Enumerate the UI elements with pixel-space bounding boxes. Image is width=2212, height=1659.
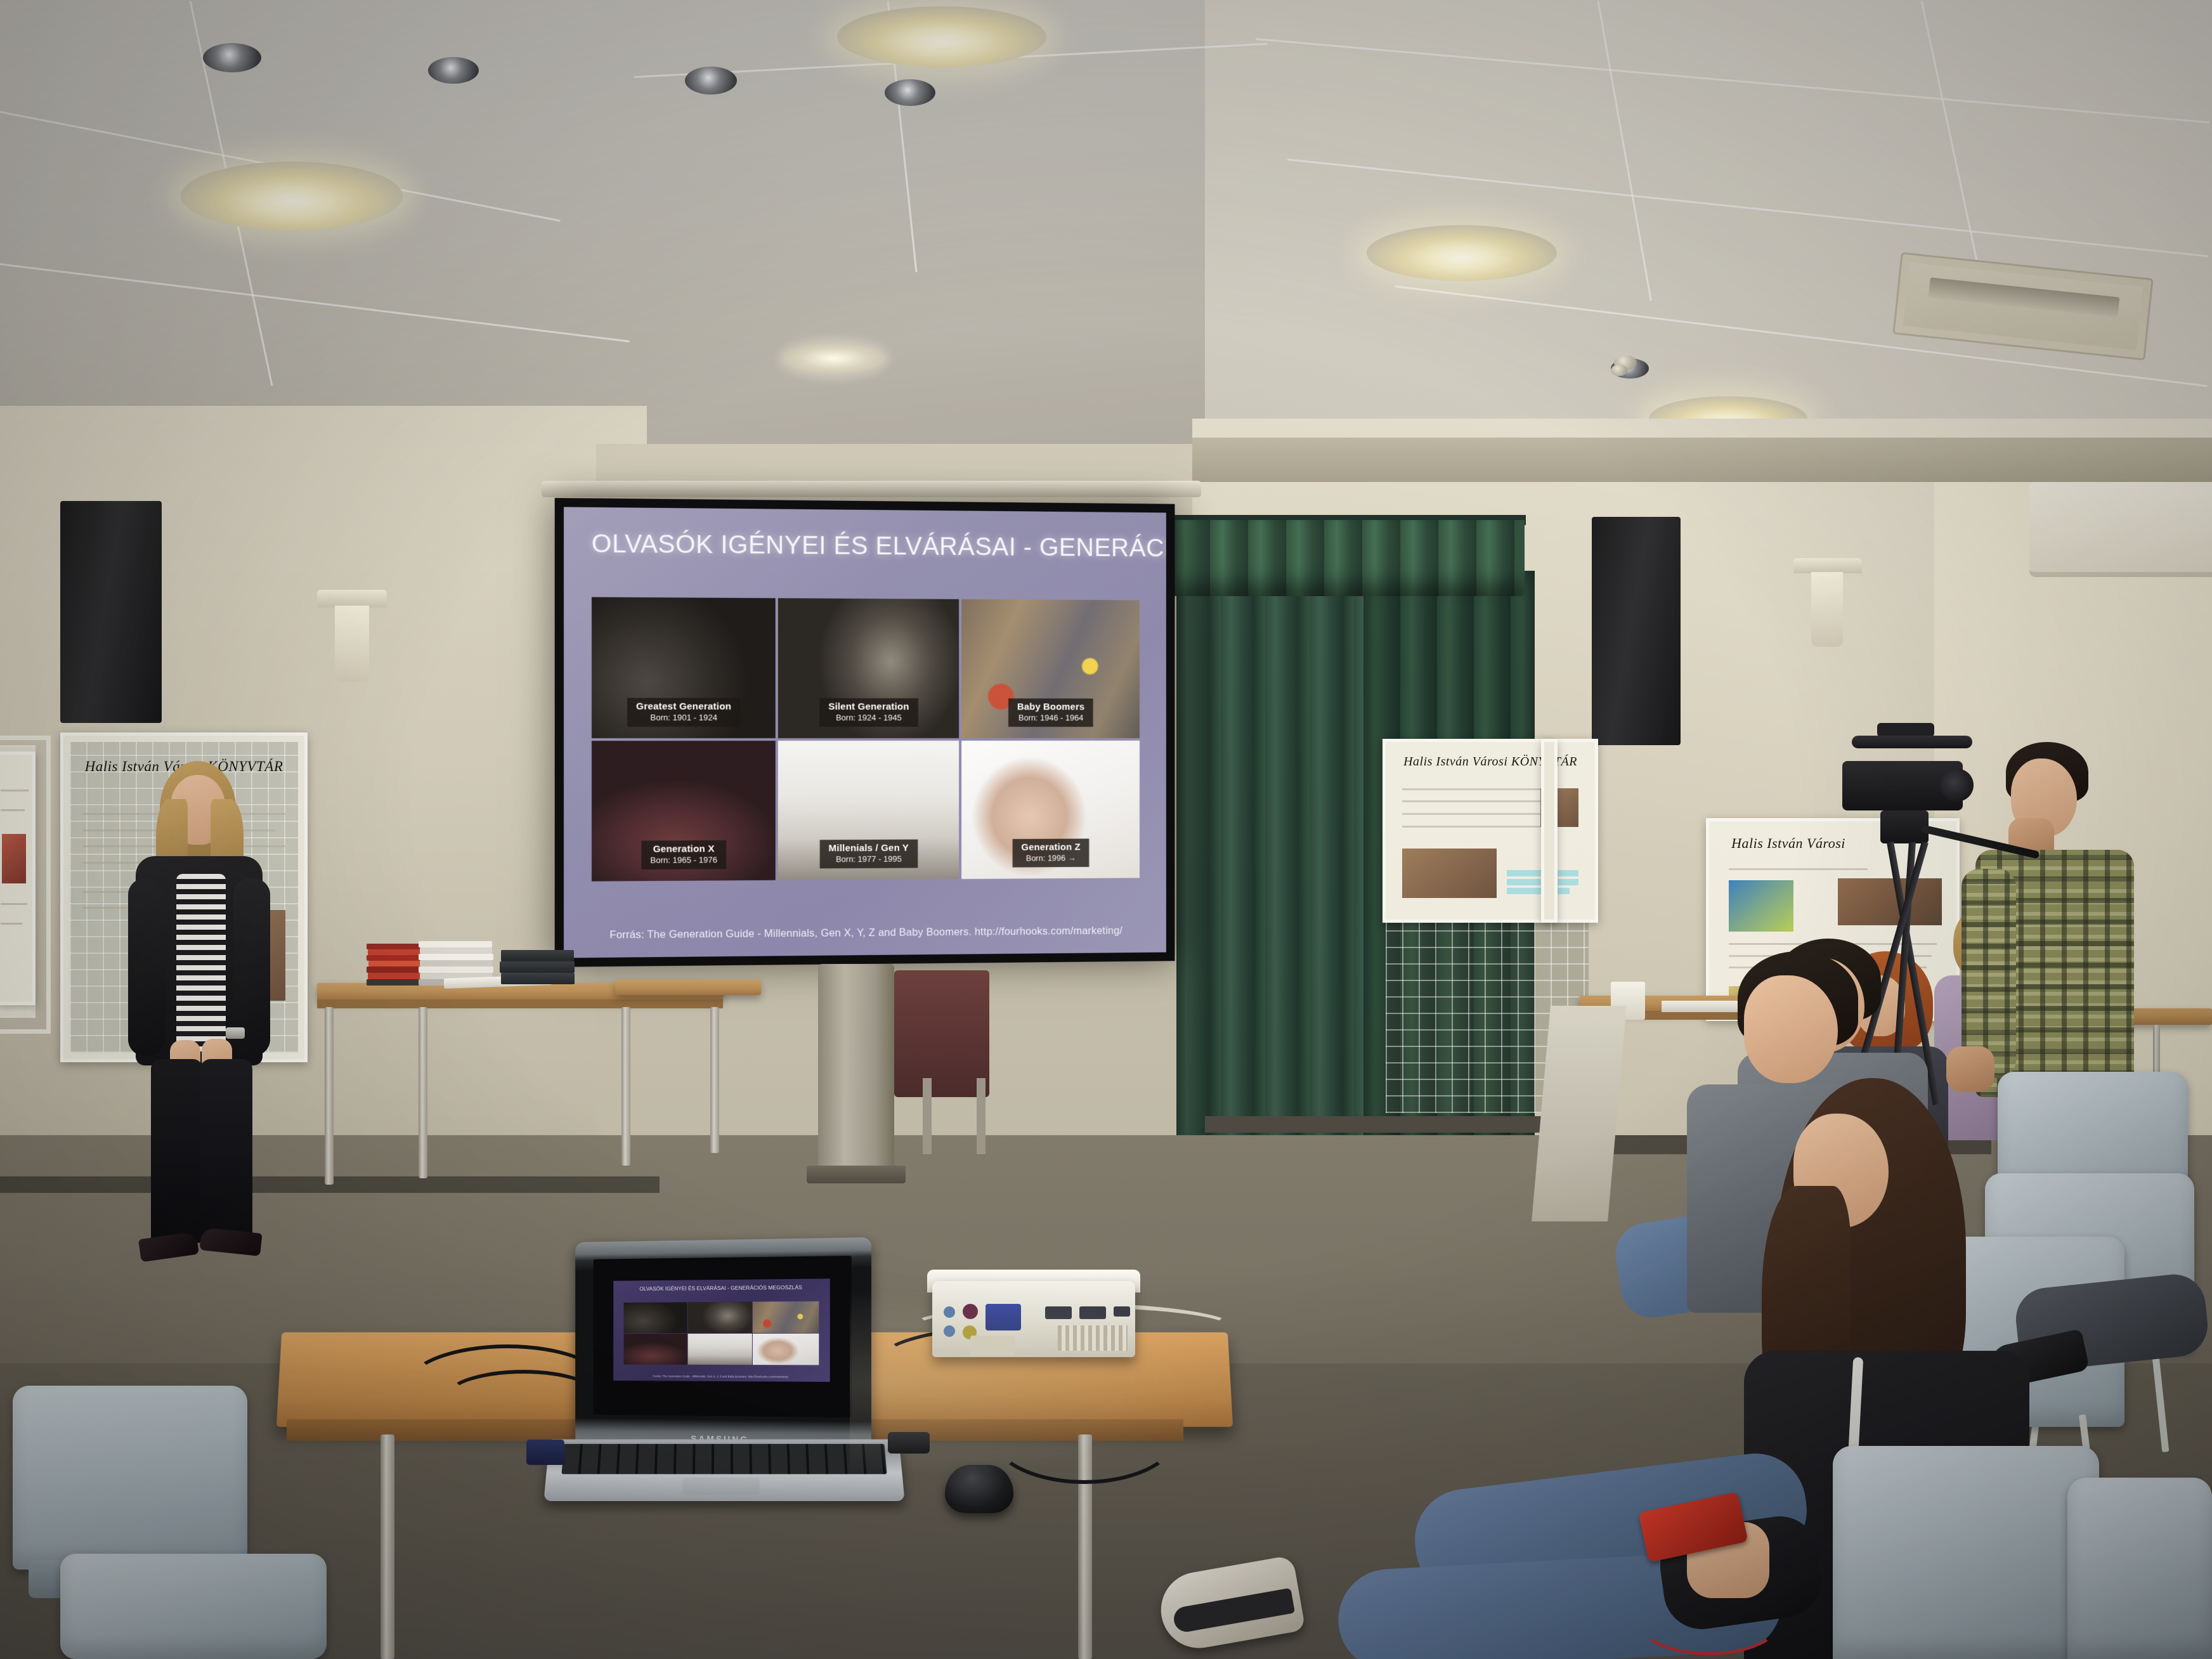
generation-cell: Silent Generation Born: 1924 - 1945 [778,599,959,738]
person-head [1744,975,1838,1083]
projection-screen: OLVASÓK IGÉNYEI ÉS ELVÁRÁSAI - GENERÁCIÓ… [555,498,1175,967]
chair-foreground-left[interactable] [13,1386,247,1570]
usb-connector [888,1432,930,1454]
generation-photo [687,1302,752,1334]
poster-center-right: Halis István Városi KÖNYVTÁR [1382,739,1598,923]
generation-label: Generation X Born: 1965 - 1976 [641,840,726,869]
generation-label: Silent Generation Born: 1924 - 1945 [819,698,918,727]
presenter-leg-left [151,1059,203,1243]
laptop-touchpad[interactable] [682,1478,760,1494]
ceiling-downlight [837,6,1046,67]
ceiling-spotlight [203,43,261,72]
chair-foreground-far-right[interactable] [2067,1478,2212,1659]
ceiling-downlight [1367,225,1557,281]
laptop-lid: OLVASÓK IGÉNYEI ÉS ELVÁRÁSAI - GENERÁCIÓ… [575,1237,871,1452]
room-pillar [818,964,894,1180]
projector-vga-out-port [1045,1306,1072,1319]
ceiling-spotlight [428,57,479,84]
projector-power-socket [970,1336,1015,1356]
poster-title: Halis István Városi KÖNYVTÁR [1386,755,1595,769]
generation-photo [753,1334,819,1365]
table-leg [419,1007,427,1178]
binder [500,961,575,973]
presenter-person [101,761,285,1306]
laptop-screen: OLVASÓK IGÉNYEI ÉS ELVÁRÁSAI - GENERÁCIÓ… [594,1256,852,1417]
wall-sconce [1811,572,1843,647]
slide-source-line: Forrás: The Generation Guide - Millennia… [564,925,1166,942]
presenter-leg-right [200,1059,252,1243]
laptop-base [543,1440,904,1501]
table-edge [317,999,723,1008]
wall-air-conditioner [2029,482,2212,577]
generation-cell: Baby Boomers Born: 1946 - 1964 [961,599,1140,738]
laptop-generation-grid [624,1301,819,1365]
generation-label: Baby Boomers Born: 1946 - 1964 [1008,698,1093,727]
ceiling-spotlight [885,79,935,106]
presenter-arm-left [128,878,165,1056]
projector-audio-port [944,1306,955,1318]
laptop-slide-title: OLVASÓK IGÉNYEI ÉS ELVÁRÁSAI - GENERÁCIÓ… [624,1284,819,1292]
data-projector [932,1281,1135,1357]
desk-leg [381,1435,394,1659]
camera-lens [1941,769,1974,802]
generation-cell: Generation X Born: 1965 - 1976 [592,741,776,882]
chair-foreground-right[interactable] [1833,1446,2099,1659]
generation-cell: Generation Z Born: 1996 → [961,740,1140,878]
ceiling-downlight [783,342,885,374]
poster-edge-right [1541,739,1558,923]
ceiling-spotlight [685,67,737,94]
pa-speaker-right [1592,517,1681,745]
slide-title: OLVASÓK IGÉNYEI ÉS ELVÁRÁSAI - GENERÁCIÓ… [592,530,1146,563]
chair-leg [977,1078,986,1154]
chair-foreground-left-2[interactable] [60,1554,327,1659]
table-leg [621,1007,630,1166]
red-earphone-cable [1636,1585,1782,1655]
projector-vga-cable-plug [986,1304,1021,1330]
mouse-cable [989,1382,1180,1484]
projector-vent [1058,1325,1128,1351]
table-leg [325,1007,334,1185]
wall-sconce [335,606,369,682]
ceiling-soffit [1192,438,2212,482]
table-leg [710,1007,719,1153]
projector-serial-port [1079,1306,1106,1319]
binder [501,973,575,984]
vga-connector [526,1440,564,1465]
projector-video-port [963,1304,978,1319]
curtain-valance [1172,520,1525,596]
camera-top-handle [1877,723,1934,737]
pillar-base [807,1166,906,1183]
chair-behind-pillar [894,970,989,1097]
ceiling-downlight [181,162,403,230]
presenter-shoe-right [199,1227,262,1256]
generation-photo [687,1334,752,1365]
wall-sconce [317,590,387,608]
poster-far-left [0,751,36,1005]
baseboard [1205,1116,1585,1133]
pa-speaker-left [60,501,162,723]
smoke-detector-icon [1611,365,1627,376]
generation-photo [624,1334,687,1365]
presenter-wristwatch [226,1027,245,1039]
wall-sconce [1793,558,1862,573]
generation-cell: Millenials / Gen Y Born: 1977 - 1995 [778,740,959,880]
generation-photo [753,1301,819,1333]
side-table-left-2 [615,980,761,995]
generation-grid: Greatest Generation Born: 1901 - 1924 Si… [592,597,1140,881]
presenter-striped-top [176,874,226,1051]
presenter-shoe-left [138,1232,199,1262]
chair-leg [923,1078,932,1154]
binder [501,950,574,961]
generation-cell: Greatest Generation Born: 1901 - 1924 [592,597,776,738]
projector-audio-port [944,1325,955,1337]
presentation-slide: OLVASÓK IGÉNYEI ÉS ELVÁRÁSAI - GENERÁCIÓ… [564,507,1166,958]
generation-photo [624,1303,687,1334]
camera-shotgun-microphone [1852,736,1972,748]
computer-mouse[interactable] [945,1465,1013,1513]
laptop-slide: OLVASÓK IGÉNYEI ÉS ELVÁRÁSAI - GENERÁCIÓ… [613,1278,830,1382]
generation-label: Greatest Generation Born: 1901 - 1924 [627,698,740,727]
laptop-slide-source: Forrás: The Generation Guide - Millennia… [613,1374,830,1379]
lecture-room-photo: OLVASÓK IGÉNYEI ÉS ELVÁRÁSAI - GENERÁCIÓ… [0,0,2212,1659]
generation-label: Generation Z Born: 1996 → [1013,838,1090,867]
projector-lan-port [1114,1306,1130,1317]
projection-screen-roller [542,481,1201,497]
generation-label: Millenials / Gen Y Born: 1977 - 1995 [820,840,918,869]
laptop-keyboard[interactable] [561,1444,887,1474]
